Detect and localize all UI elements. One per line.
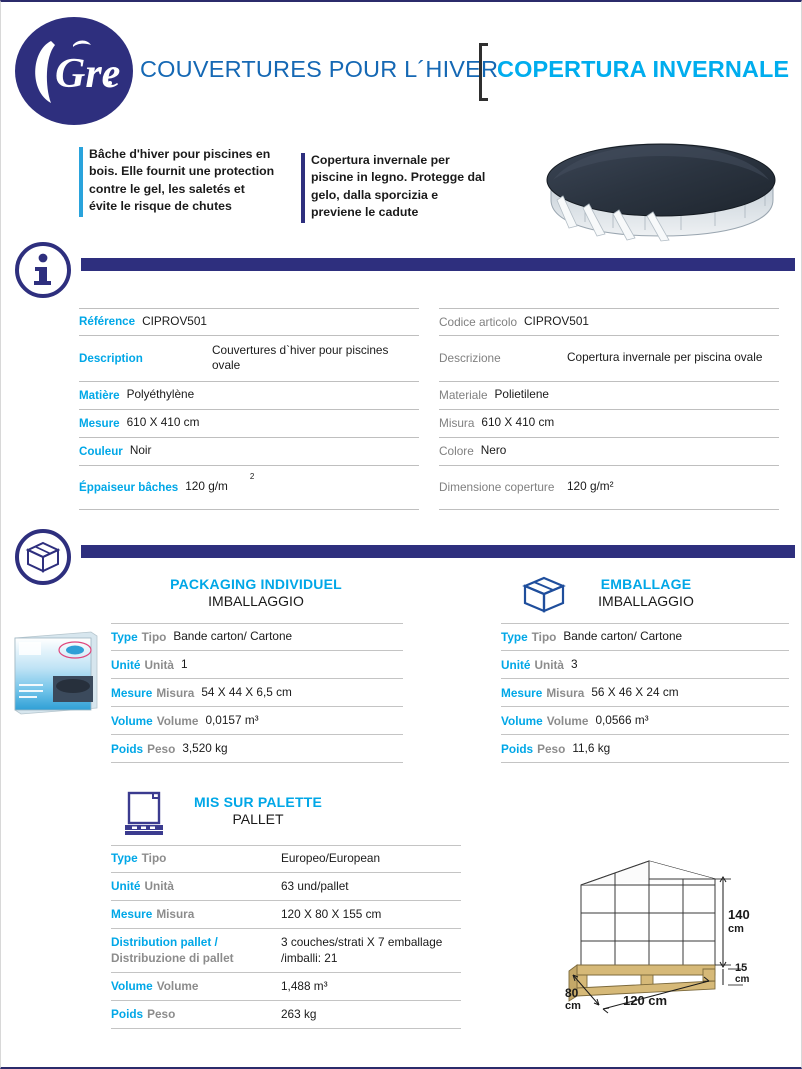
section-divider-bar-packaging xyxy=(81,545,795,558)
pallet-dimension-diagram: 140 cm 15 cm 80 cm 120 cm xyxy=(563,857,785,1022)
spec-row: Description Couvertures d`hiver pour pis… xyxy=(79,336,419,382)
row-label-fr: Poids xyxy=(111,1007,143,1022)
spec-label: Référence xyxy=(79,315,135,328)
row-value: 3 couches/strati X 7 emballage /imballi:… xyxy=(281,935,446,966)
spec-table-it: Codice articolo CIPROV501 Descrizione Co… xyxy=(439,308,779,510)
table-row: Type Tipo Bande carton/ Cartone xyxy=(501,623,789,651)
pallet-title-it: PALLET xyxy=(113,811,403,827)
spec-value-superscript: 2 xyxy=(250,472,254,482)
row-label-it: Misura xyxy=(156,907,194,922)
header-title-fr: COUVERTURES POUR L´HIVER xyxy=(140,56,498,83)
spec-value: Copertura invernale per piscina ovale xyxy=(567,350,767,365)
row-label-it: Volume xyxy=(547,714,589,728)
row-label-fr: Mesure xyxy=(111,907,152,922)
section-header-info xyxy=(15,242,795,298)
table-row: Mesure Misura 120 X 80 X 155 cm xyxy=(111,901,461,929)
spec-row: Colore Nero xyxy=(439,438,779,466)
spec-value: Polietilene xyxy=(495,387,549,402)
row-label: Type Tipo xyxy=(111,851,281,866)
row-label-it: Volume xyxy=(157,979,199,994)
row-label-it: Unità xyxy=(535,658,565,672)
row-value: 263 kg xyxy=(281,1007,316,1022)
packaging-individual-table: Type Tipo Bande carton/ Cartone Unité Un… xyxy=(111,623,403,763)
row-label-fr: Volume xyxy=(501,714,543,728)
spec-value: Couvertures d`hiver pour piscines ovale xyxy=(212,343,392,373)
page-header: Gre COUVERTURES POUR L´HIVER COPERTURA I… xyxy=(1,2,802,132)
table-row: Poids Peso 11,6 kg xyxy=(501,735,789,763)
pallet-title: MIS SUR PALETTE PALLET xyxy=(113,794,403,827)
spec-label: Couleur xyxy=(79,445,123,458)
row-label-it: Unità xyxy=(145,879,175,894)
spec-row: Materiale Polietilene xyxy=(439,382,779,410)
spec-label: Matière xyxy=(79,389,120,402)
row-label-fr: Type xyxy=(501,630,528,644)
row-label-it: Distribuzione di pallet xyxy=(111,951,281,966)
spec-label: Éppaiseur bâches xyxy=(79,481,178,494)
spec-row: Mesure 610 X 410 cm xyxy=(79,410,419,438)
row-label-fr: Unité xyxy=(111,879,141,894)
packaging-box-table: Type Tipo Bande carton/ Cartone Unité Un… xyxy=(501,623,789,763)
row-label-fr: Type xyxy=(111,630,138,644)
row-value: 0,0566 m³ xyxy=(595,713,648,728)
pallet-title-fr: MIS SUR PALETTE xyxy=(113,794,403,810)
row-value: 3,520 kg xyxy=(182,741,227,756)
row-label-fr: Volume xyxy=(111,714,153,728)
table-row: Poids Peso 263 kg xyxy=(111,1001,461,1029)
row-label-it: Tipo xyxy=(532,630,557,644)
spec-table-fr: Référence CIPROV501 Description Couvertu… xyxy=(79,308,419,510)
product-datasheet-page: Gre COUVERTURES POUR L´HIVER COPERTURA I… xyxy=(0,0,802,1069)
packaging-individual-title-fr: PACKAGING INDIVIDUEL xyxy=(111,576,401,592)
spec-label: Misura xyxy=(439,416,474,430)
pallet-width-label: 120 cm xyxy=(623,993,667,1008)
table-row: Unité Unità 63 und/pallet xyxy=(111,873,461,901)
spec-row: Matière Polyéthylène xyxy=(79,382,419,410)
row-label-it: Unità xyxy=(145,658,175,672)
info-circle-icon xyxy=(15,242,71,298)
table-row: Mesure Misura 56 X 46 X 24 cm xyxy=(501,679,789,707)
spec-row: Misura 610 X 410 cm xyxy=(439,410,779,438)
table-row: Type Tipo Europeo/European xyxy=(111,845,461,873)
spec-label: Mesure xyxy=(79,417,120,430)
spec-label: Dimensione coperture xyxy=(439,480,567,495)
spec-row: Codice articolo CIPROV501 xyxy=(439,308,779,336)
row-label-fr: Poids xyxy=(111,742,143,756)
intro-it-text: Copertura invernale per piscine in legno… xyxy=(311,153,485,219)
row-value: 3 xyxy=(571,657,578,672)
spec-value: Nero xyxy=(481,443,507,458)
row-label-it: Misura xyxy=(156,686,194,700)
table-row: Volume Volume 0,0566 m³ xyxy=(501,707,789,735)
row-label-it: Misura xyxy=(546,686,584,700)
row-value: 11,6 kg xyxy=(572,741,610,756)
row-label: Unité Unità xyxy=(111,879,281,894)
product-photo-pool-cover xyxy=(533,130,791,242)
spec-value: Noir xyxy=(130,443,152,458)
pallet-height-unit: cm xyxy=(728,923,744,935)
row-label-fr: Mesure xyxy=(111,686,152,700)
spec-row: Couleur Noir xyxy=(79,438,419,466)
row-value: 54 X 44 X 6,5 cm xyxy=(201,685,292,700)
row-label-it: Volume xyxy=(157,714,199,728)
spec-row: Descrizione Copertura invernale per pisc… xyxy=(439,336,779,382)
row-label-it: Tipo xyxy=(142,630,167,644)
table-row: Unité Unità 3 xyxy=(501,651,789,679)
table-row: Volume Volume 1,488 m³ xyxy=(111,973,461,1001)
row-value: 120 X 80 X 155 cm xyxy=(281,907,381,922)
row-label-fr: Poids xyxy=(501,742,533,756)
intro-text-fr: Bâche d'hiver pour piscines en bois. Ell… xyxy=(89,146,275,216)
row-label-it: Tipo xyxy=(142,851,167,866)
spec-label: Description xyxy=(79,352,212,365)
row-label-fr: Type xyxy=(111,851,138,866)
intro-fr-text: Bâche d'hiver pour piscines en bois. Ell… xyxy=(89,147,274,213)
packaging-individual-title: PACKAGING INDIVIDUEL IMBALLAGGIO xyxy=(111,576,401,609)
row-value: 1,488 m³ xyxy=(281,979,328,994)
spec-value: CIPROV501 xyxy=(142,314,207,329)
spec-label: Materiale xyxy=(439,388,488,402)
spec-value: 610 X 410 cm xyxy=(127,415,200,430)
row-label-it: Peso xyxy=(147,742,175,756)
spec-value: CIPROV501 xyxy=(524,314,589,329)
row-label-it: Peso xyxy=(147,1007,175,1022)
packaging-individual-title-it: IMBALLAGGIO xyxy=(111,593,401,609)
spec-row: Dimensione coperture 120 g/m² xyxy=(439,466,779,510)
table-row: Poids Peso 3,520 kg xyxy=(111,735,403,763)
pallet-depth-value: 80 xyxy=(565,986,579,1000)
header-title-it: COPERTURA INVERNALE xyxy=(497,56,789,83)
row-label-fr: Mesure xyxy=(501,686,542,700)
table-row: Type Tipo Bande carton/ Cartone xyxy=(111,623,403,651)
row-value: 0,0157 m³ xyxy=(205,713,258,728)
pallet-table: Type Tipo Europeo/European Unité Unità 6… xyxy=(111,845,461,1029)
table-row: Volume Volume 0,0157 m³ xyxy=(111,707,403,735)
svg-text:Gre: Gre xyxy=(55,51,120,97)
table-row: Mesure Misura 54 X 44 X 6,5 cm xyxy=(111,679,403,707)
row-label-fr: Volume xyxy=(111,979,153,994)
spec-value: 120 g/m² xyxy=(567,479,614,494)
row-label: Poids Peso xyxy=(111,1007,281,1022)
row-value: Europeo/European xyxy=(281,851,380,866)
gre-logo: Gre xyxy=(15,17,133,125)
row-value: Bande carton/ Cartone xyxy=(563,629,682,644)
spec-label: Descrizione xyxy=(439,351,567,366)
spec-value: Polyéthylène xyxy=(127,387,195,402)
row-value: 56 X 46 X 24 cm xyxy=(591,685,678,700)
row-value: 1 xyxy=(181,657,188,672)
section-divider-bar-info xyxy=(81,258,795,271)
spec-row: Référence CIPROV501 xyxy=(79,308,419,336)
retail-carton-photo xyxy=(9,624,101,720)
header-divider xyxy=(479,43,488,101)
row-value: Bande carton/ Cartone xyxy=(173,629,292,644)
spec-value: 610 X 410 cm xyxy=(481,415,554,430)
pallet-base-height-value: 15 xyxy=(735,962,747,974)
accent-bar-fr xyxy=(79,147,83,217)
row-label-fr: Unité xyxy=(111,658,141,672)
intro-text-it: Copertura invernale per piscine in legno… xyxy=(311,152,491,222)
row-label-it: Peso xyxy=(537,742,565,756)
row-label-fr: Unité xyxy=(501,658,531,672)
package-circle-icon xyxy=(15,529,71,585)
spec-label: Colore xyxy=(439,444,474,458)
table-row: Distribution pallet / Distribuzione di p… xyxy=(111,929,461,973)
accent-bar-it xyxy=(301,153,305,223)
table-row: Unité Unità 1 xyxy=(111,651,403,679)
row-label: Volume Volume xyxy=(111,979,281,994)
spec-value: 120 g/m xyxy=(185,479,228,494)
logo-gre-mark: Gre xyxy=(15,17,133,125)
packaging-box-title-fr: EMBALLAGE xyxy=(501,576,791,592)
row-label: Distribution pallet / Distribuzione di p… xyxy=(111,935,281,966)
spec-row: Éppaiseur bâches 120 g/m 2 xyxy=(79,466,419,510)
packaging-box-title: EMBALLAGE IMBALLAGGIO xyxy=(501,576,791,609)
pallet-base-height-unit: cm xyxy=(735,974,750,985)
row-label: Mesure Misura xyxy=(111,907,281,922)
row-value: 63 und/pallet xyxy=(281,879,349,894)
pallet-height-value: 140 xyxy=(728,907,750,922)
spec-label: Codice articolo xyxy=(439,315,517,329)
packaging-box-title-it: IMBALLAGGIO xyxy=(501,593,791,609)
row-label-fr: Distribution pallet / xyxy=(111,935,281,950)
pallet-depth-unit: cm xyxy=(565,1000,581,1012)
